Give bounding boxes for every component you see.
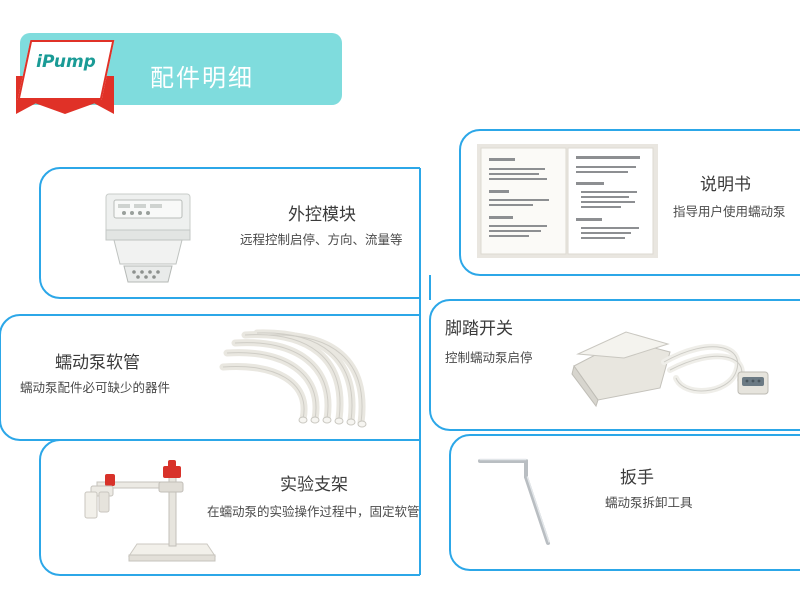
card-wrench: 扳手 蠕动泵拆卸工具 (450, 435, 800, 570)
item-title: 脚踏开关 (445, 314, 513, 339)
item-desc: 在蠕动泵的实验操作过程中，固定软管 (207, 502, 437, 521)
item-title: 扳手 (620, 463, 654, 488)
item-title: 实验支架 (280, 470, 348, 495)
logo-ribbon: iPump (16, 36, 116, 112)
card-stand: 实验支架 在蠕动泵的实验操作过程中，固定软管 (40, 440, 420, 575)
card-manual: 说明书 指导用户使用蠕动泵 (460, 130, 800, 275)
accessory-list-diagram: 配件明细 iPump (0, 0, 800, 600)
brand-logo-text: iPump (16, 52, 116, 72)
card-foot-switch: 脚踏开关 控制蠕动泵启停 (430, 300, 800, 430)
item-desc: 控制蠕动泵启停 (445, 348, 675, 367)
page-title: 配件明细 (150, 58, 254, 93)
db-connector-module-photo (68, 186, 228, 296)
item-title: 蠕动泵软管 (55, 348, 140, 373)
item-desc: 蠕动泵配件必可缺少的器件 (20, 378, 280, 397)
item-title: 外控模块 (288, 200, 356, 225)
open-booklet-photo (475, 142, 660, 262)
allen-key-photo (470, 447, 590, 557)
card-external-control-module: 外控模块 远程控制启停、方向、流量等 (40, 168, 420, 298)
item-desc: 蠕动泵拆卸工具 (605, 493, 800, 512)
card-hose: 蠕动泵软管 蠕动泵配件必可缺少的器件 (0, 315, 420, 440)
item-desc: 远程控制启停、方向、流量等 (240, 230, 460, 249)
item-desc: 指导用户使用蠕动泵 (673, 202, 800, 221)
item-title: 说明书 (700, 170, 751, 195)
